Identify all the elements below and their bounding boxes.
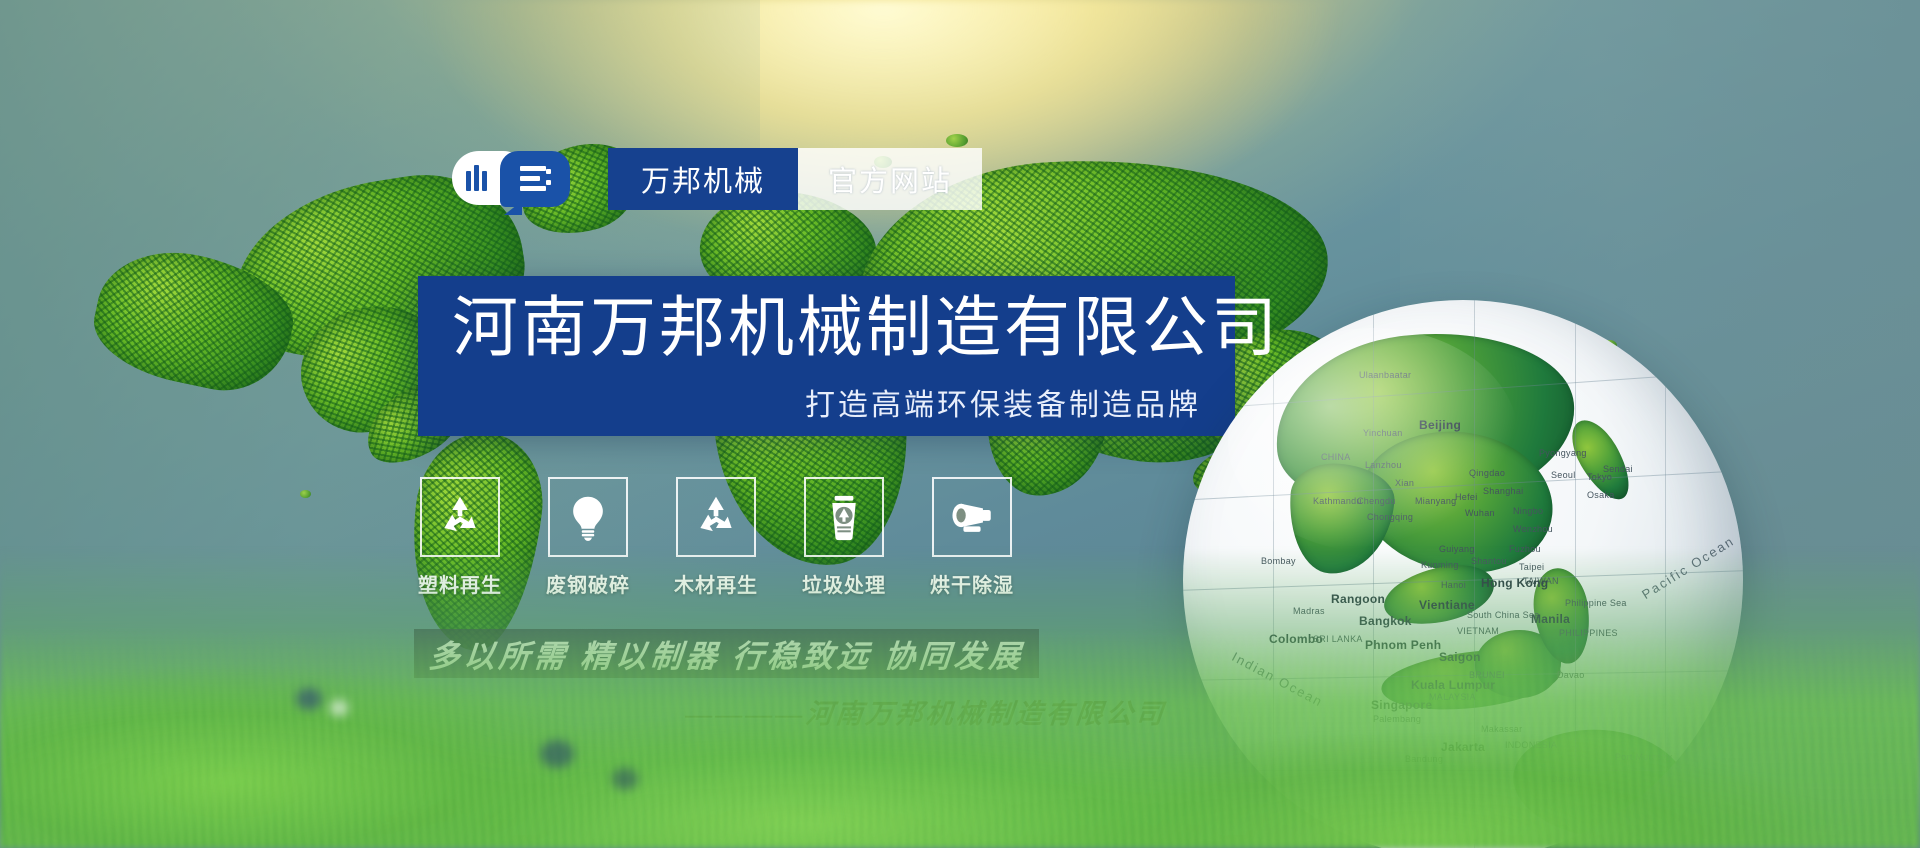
tab-brand[interactable]: 万邦机械: [608, 148, 798, 210]
globe-city-label: Ningbo: [1513, 506, 1543, 516]
recycle-icon: [691, 492, 741, 542]
page-subtitle: 打造高端环保装备制造品牌: [805, 380, 1201, 424]
logo-e-bubble: [500, 151, 570, 207]
dryer-icon: [947, 492, 997, 542]
globe-city-label: Beijing: [1419, 418, 1461, 432]
grass-bokeh: [612, 768, 638, 790]
globe-city-label: Shanghai: [1483, 486, 1523, 496]
recycle-icon: [435, 492, 485, 542]
globe-city-label: Xian: [1395, 478, 1414, 488]
tab-official-site[interactable]: 官方网站: [798, 148, 982, 210]
grass-bokeh: [330, 700, 348, 716]
globe-city-label: Wenzhou: [1513, 524, 1553, 534]
grass-bokeh: [296, 688, 322, 710]
trash-bin-icon: [819, 492, 869, 542]
globe-city-label: Mianyang: [1415, 496, 1456, 506]
globe-city-label: Chengdu: [1357, 496, 1396, 506]
page-title: 河南万邦机械制造有限公司: [452, 292, 1280, 363]
globe-city-label: Qingdao: [1469, 468, 1505, 478]
feature-icon-box: [932, 477, 1012, 557]
feature-icon-box: [676, 477, 756, 557]
globe-city-label: Chongqing: [1367, 512, 1413, 522]
grass-bokeh: [540, 740, 574, 768]
globe-city-label: Seoul: [1551, 470, 1576, 480]
hero-banner: 万邦机械 官方网站 河南万邦机械制造有限公司 打造高端环保装备制造品牌 塑料再生: [0, 0, 1920, 848]
feature-icon-box: [420, 477, 500, 557]
globe-city-label: Kathmandu: [1313, 496, 1362, 506]
globe-city-label: Wuhan: [1465, 508, 1495, 518]
letter-w-icon: [466, 165, 487, 191]
letter-e-icon: [520, 166, 550, 192]
feature-icon-box: [804, 477, 884, 557]
globe-city-label: Sendai: [1603, 464, 1633, 474]
brand-logo[interactable]: [452, 151, 570, 207]
feature-icon-box: [548, 477, 628, 557]
globe-city-label: Osaka: [1587, 490, 1615, 500]
globe-city-label: Hefei: [1455, 492, 1478, 502]
grass-blades-texture: [0, 628, 1920, 848]
header-tabs: 万邦机械 官方网站: [608, 148, 982, 210]
globe-city-label: Lanzhou: [1365, 460, 1402, 470]
globe-city-label: Ulaanbaatar: [1359, 370, 1411, 380]
globe-city-label: Pyongyang: [1539, 448, 1587, 458]
site-header: 万邦机械 官方网站: [452, 148, 982, 210]
globe-country-label: CHINA: [1321, 452, 1351, 462]
lightbulb-icon: [563, 492, 613, 542]
globe-city-label: Yinchuan: [1363, 428, 1403, 438]
hero-title-panel: 河南万邦机械制造有限公司 打造高端环保装备制造品牌: [418, 276, 1235, 436]
